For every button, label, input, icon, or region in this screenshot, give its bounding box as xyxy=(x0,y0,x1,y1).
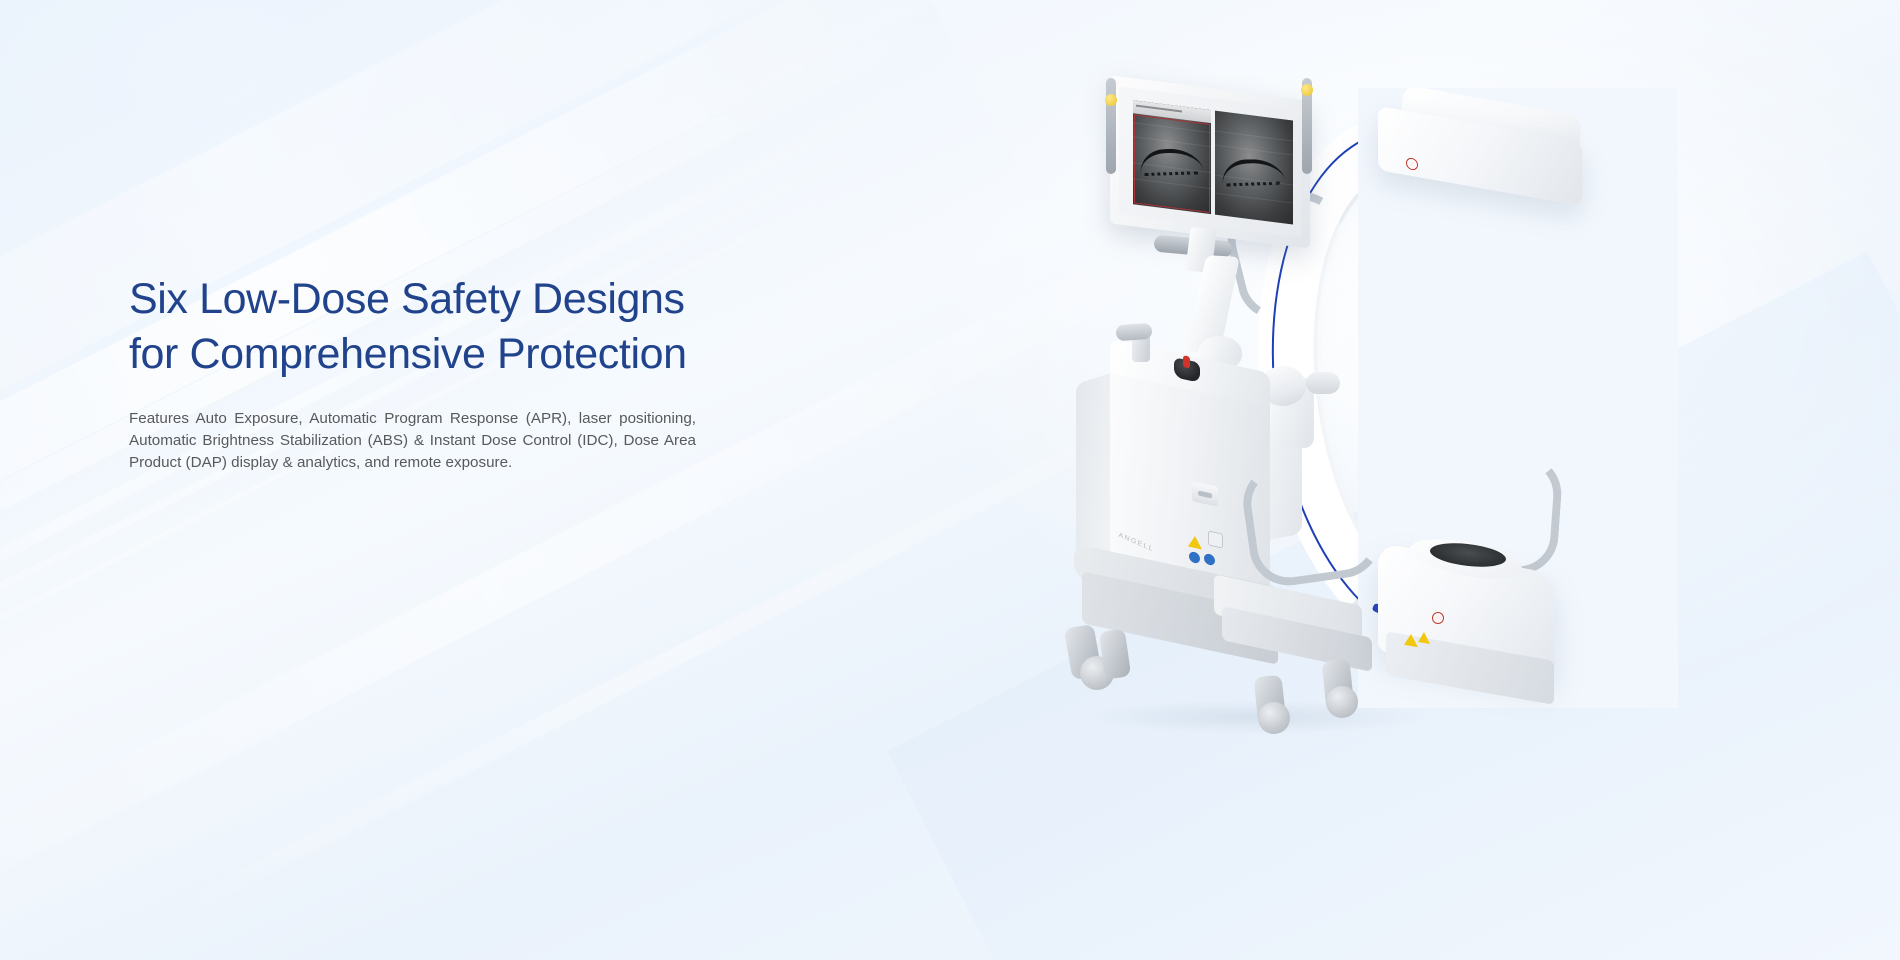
caster-fork-2 xyxy=(1099,628,1131,679)
monitor-knob-right[interactable] xyxy=(1301,84,1313,96)
console-push-handle[interactable] xyxy=(1115,323,1152,341)
monitor-grip-left[interactable] xyxy=(1106,78,1116,174)
tube-warning-triangle-1 xyxy=(1404,633,1418,647)
tube-warning-triangle-2 xyxy=(1418,631,1430,644)
certification-label-icon xyxy=(1208,530,1223,548)
monitor-screen-right[interactable] xyxy=(1215,111,1293,225)
headline-line-2: for Comprehensive Protection xyxy=(129,327,709,382)
c-arm-handle-middle[interactable] xyxy=(1238,451,1386,590)
headline-line-1: Six Low-Dose Safety Designs xyxy=(129,272,709,327)
product-image-mobile-c-arm: ANGELL xyxy=(1110,60,1670,760)
monitor-screen-left[interactable] xyxy=(1133,100,1211,214)
radiation-warning-icon-2 xyxy=(1432,612,1444,624)
monitor-knob-left[interactable] xyxy=(1105,94,1117,106)
monitor-housing xyxy=(1110,75,1310,248)
page-title: Six Low-Dose Safety Designs for Comprehe… xyxy=(129,272,709,382)
monitor-bezel xyxy=(1119,87,1301,238)
hero-description: Features Auto Exposure, Automatic Progra… xyxy=(129,408,696,473)
caster-wheel-3 xyxy=(1258,702,1290,734)
caster-wheel-4 xyxy=(1326,686,1358,718)
collimator-stub xyxy=(1306,372,1340,394)
hero-copy: Six Low-Dose Safety Designs for Comprehe… xyxy=(129,272,709,473)
